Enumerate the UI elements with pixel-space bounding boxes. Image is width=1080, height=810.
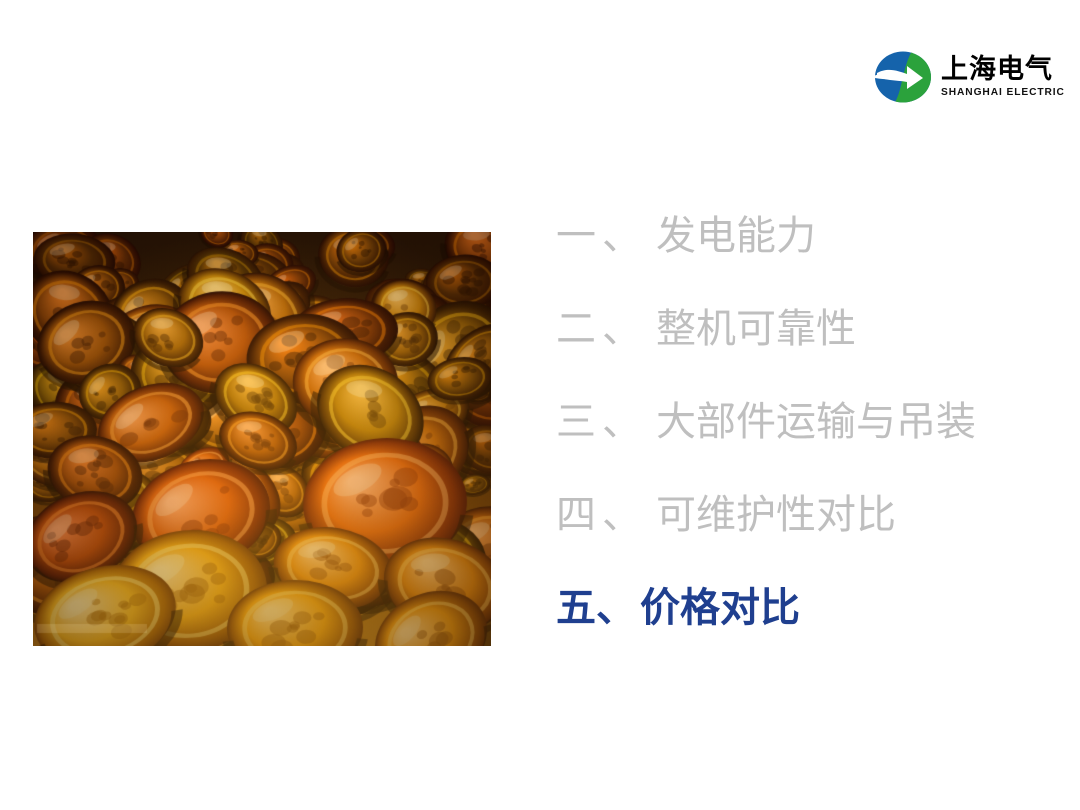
agenda-item-4-label: 可维护性对比 [656, 492, 896, 538]
agenda-item-1[interactable]: 一、发电能力 [556, 216, 1056, 256]
slide-canvas: 上海电气 SHANGHAI ELECTRIC 一、发电能力 二、整机可靠性 三、… [0, 0, 1080, 810]
coins-photo-canvas [33, 232, 491, 646]
agenda-item-2-number: 二、 [556, 306, 648, 352]
coins-photo [33, 232, 491, 646]
agenda-item-5-label: 价格对比 [640, 584, 800, 631]
brand-logo: 上海电气 SHANGHAI ELECTRIC [874, 48, 1068, 106]
logo-name-en: SHANGHAI ELECTRIC [941, 88, 1065, 98]
agenda-list: 一、发电能力 二、整机可靠性 三、大部件运输与吊装 四、可维护性对比 五、价格对… [556, 216, 1056, 628]
agenda-item-1-label: 发电能力 [656, 213, 816, 259]
agenda-item-5-number: 五、 [556, 584, 636, 631]
logo-wordmark: 上海电气 SHANGHAI ELECTRIC [941, 56, 1062, 97]
logo-name-cn: 上海电气 [941, 56, 1062, 84]
shanghai-electric-emblem-icon [874, 51, 932, 103]
agenda-item-5[interactable]: 五、价格对比 [556, 588, 1056, 628]
agenda-item-1-number: 一、 [556, 213, 648, 259]
agenda-item-3-label: 大部件运输与吊装 [656, 399, 976, 445]
agenda-item-4[interactable]: 四、可维护性对比 [556, 495, 1056, 535]
agenda-item-3-number: 三、 [556, 399, 648, 445]
agenda-item-2-label: 整机可靠性 [656, 306, 856, 352]
agenda-item-4-number: 四、 [556, 492, 648, 538]
agenda-item-3[interactable]: 三、大部件运输与吊装 [556, 402, 1056, 442]
agenda-item-2[interactable]: 二、整机可靠性 [556, 309, 1056, 349]
